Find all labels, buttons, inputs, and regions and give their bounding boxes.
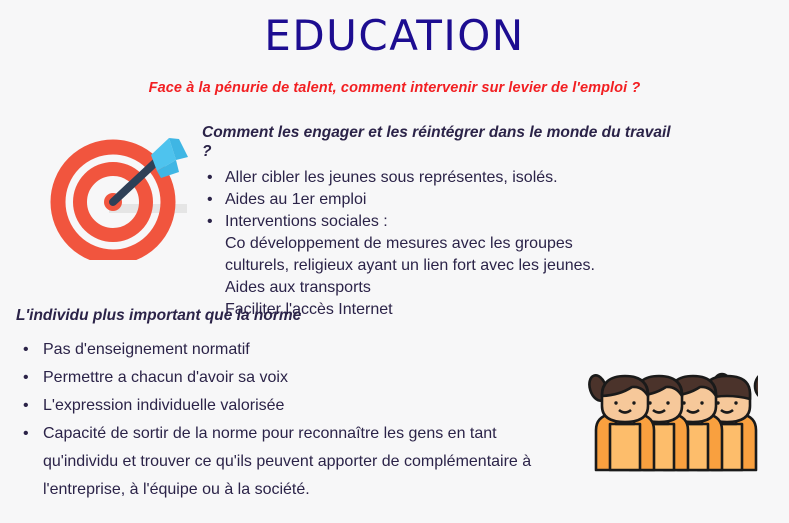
subline: Co développement de mesures avec les gro…: [225, 233, 672, 255]
subline: Aides aux transports: [225, 277, 672, 299]
section-engagement-list: Aller cibler les jeunes sous représentes…: [202, 167, 672, 321]
section-individu-list: Pas d'enseignement normatif Permettre a …: [16, 336, 576, 504]
section-engagement: Comment les engager et les réintégrer da…: [202, 124, 672, 321]
section-individu-heading: L'individu plus important que la norme: [16, 307, 576, 326]
group-of-children-icon: [578, 362, 758, 472]
list-item: Aller cibler les jeunes sous représentes…: [202, 167, 672, 189]
section-individu: L'individu plus important que la norme P…: [16, 307, 576, 504]
list-item-label: Interventions sociales :: [225, 213, 388, 230]
slide-canvas: EDUCATION Face à la pénurie de talent, c…: [0, 0, 789, 523]
page-title: EDUCATION: [0, 14, 789, 58]
subtitle-question: Face à la pénurie de talent, comment int…: [0, 80, 789, 96]
list-item: Pas d'enseignement normatif: [16, 336, 576, 364]
list-item: Aides au 1er emploi: [202, 189, 672, 211]
target-dartboard-icon: [45, 130, 195, 260]
list-item: L'expression individuelle valorisée: [16, 392, 576, 420]
list-item: Permettre a chacun d'avoir sa voix: [16, 364, 576, 392]
subline: culturels, religieux ayant un lien fort …: [225, 255, 672, 277]
list-item: Capacité de sortir de la norme pour reco…: [16, 420, 576, 504]
section-engagement-heading: Comment les engager et les réintégrer da…: [202, 124, 672, 161]
list-item: Interventions sociales : Co développemen…: [202, 211, 672, 321]
